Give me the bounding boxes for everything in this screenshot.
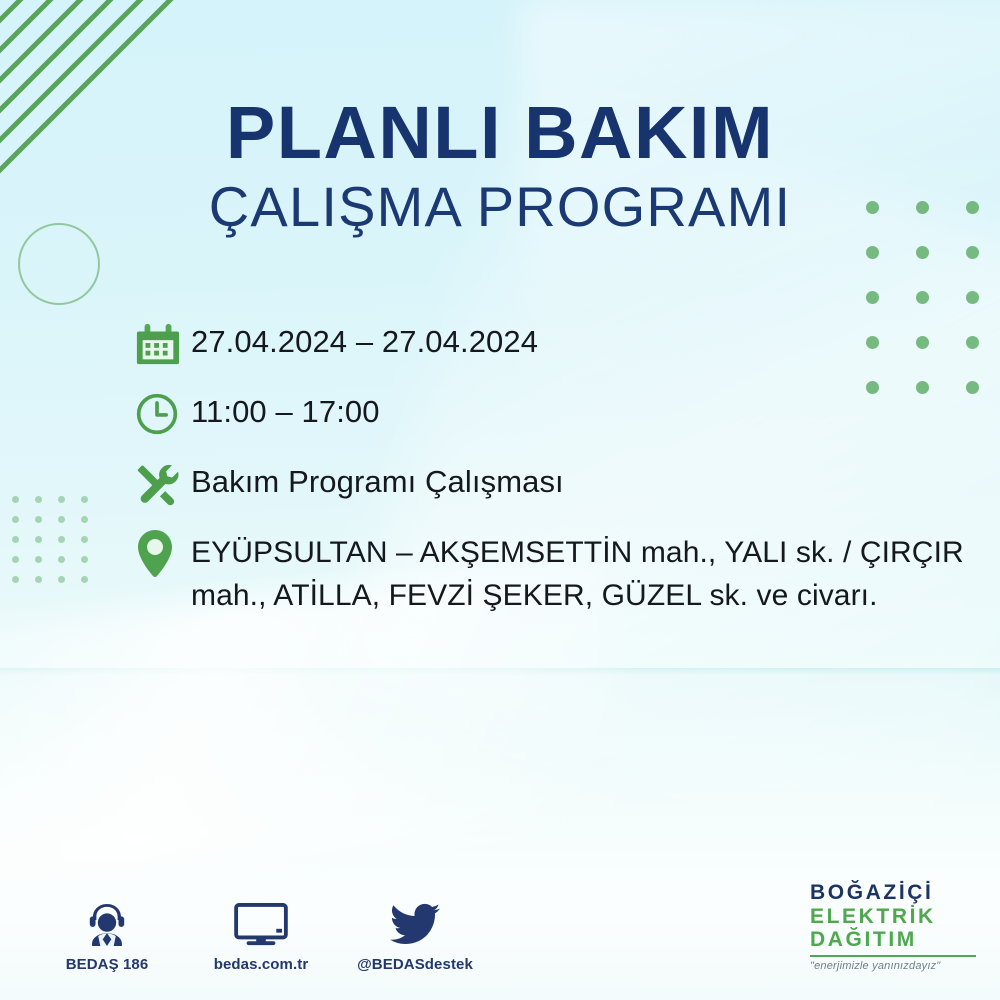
contact-label-twitter: @BEDASdestek	[357, 956, 473, 973]
info-row-time: 11:00 – 17:00	[135, 388, 975, 440]
page-subtitle: ÇALIŞMA PROGRAMI	[0, 178, 1000, 237]
grid-dot	[966, 291, 979, 304]
grid-dot	[866, 291, 879, 304]
grid-dot	[12, 516, 19, 523]
grid-dot	[12, 576, 19, 583]
call-center-agent-icon	[84, 893, 130, 947]
brand-divider	[810, 955, 976, 957]
contact-item-website[interactable]: bedas.com.tr	[206, 893, 316, 973]
brand-name-line2: ELEKTRİK	[810, 905, 982, 929]
grid-dot	[58, 516, 65, 523]
grid-dot	[12, 496, 19, 503]
planned-maintenance-poster: PLANLI BAKIM ÇALIŞMA PROGRAMI	[0, 0, 1000, 1000]
time-range-text: 11:00 – 17:00	[191, 388, 380, 433]
grid-dot	[12, 556, 19, 563]
info-row-work-type: Bakım Programı Çalışması	[135, 458, 975, 510]
twitter-bird-icon	[389, 893, 441, 947]
footer-contacts: BEDAŞ 186 bedas.com.tr @BEDASdestek	[52, 893, 470, 973]
grid-dot	[58, 536, 65, 543]
grid-dot	[966, 246, 979, 259]
grid-dot	[81, 496, 88, 503]
grid-dot	[35, 496, 42, 503]
contact-label-phone: BEDAŞ 186	[66, 956, 149, 973]
maintenance-details-list: 27.04.2024 – 27.04.2024 11:00 – 17:00	[135, 318, 975, 617]
date-range-text: 27.04.2024 – 27.04.2024	[191, 318, 538, 363]
poster-header: PLANLI BAKIM ÇALIŞMA PROGRAMI	[0, 96, 1000, 237]
dot-grid-left	[12, 496, 104, 596]
contact-label-website: bedas.com.tr	[214, 956, 309, 973]
grid-dot	[81, 576, 88, 583]
monitor-icon	[234, 893, 288, 947]
grid-dot	[866, 246, 879, 259]
location-text: EYÜPSULTAN – AKŞEMSETTİN mah., YALI sk. …	[191, 528, 975, 617]
brand-logo: BOĞAZİÇİ ELEKTRİK DAĞITIM "enerjimizle y…	[810, 881, 982, 972]
grid-dot	[916, 291, 929, 304]
page-title: PLANLI BAKIM	[0, 96, 1000, 170]
work-type-text: Bakım Programı Çalışması	[191, 458, 564, 503]
grid-dot	[12, 536, 19, 543]
grid-dot	[81, 556, 88, 563]
grid-dot	[81, 536, 88, 543]
grid-dot	[35, 536, 42, 543]
grid-dot	[58, 496, 65, 503]
info-row-date: 27.04.2024 – 27.04.2024	[135, 318, 975, 370]
grid-dot	[35, 556, 42, 563]
grid-dot	[58, 556, 65, 563]
brand-name-line3: DAĞITIM	[810, 928, 982, 952]
contact-item-phone[interactable]: BEDAŞ 186	[52, 893, 162, 973]
brand-tagline: "enerjimizle yanınızdayız"	[810, 960, 982, 972]
tools-icon	[135, 458, 191, 510]
contact-item-twitter[interactable]: @BEDASdestek	[360, 893, 470, 973]
info-row-location: EYÜPSULTAN – AKŞEMSETTİN mah., YALI sk. …	[135, 528, 975, 617]
grid-dot	[916, 246, 929, 259]
grid-dot	[35, 576, 42, 583]
calendar-icon	[135, 318, 191, 370]
brand-name-line1: BOĞAZİÇİ	[810, 881, 982, 905]
grid-dot	[35, 516, 42, 523]
grid-dot	[81, 516, 88, 523]
clock-icon	[135, 388, 191, 440]
grid-dot	[58, 576, 65, 583]
location-pin-icon	[135, 528, 191, 580]
